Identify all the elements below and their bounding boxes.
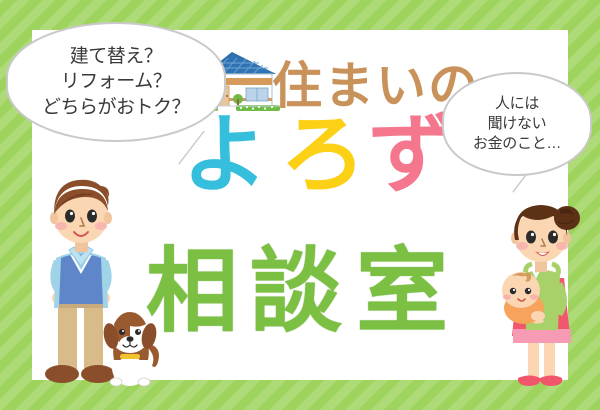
title-char-ro: ろ (280, 112, 366, 198)
money-bubble-line-2: 聞けない (473, 114, 561, 134)
money-bubble: 人には 聞けない お金のこと… (442, 72, 592, 176)
banner-root: 住まいの よ ろ ず 相 談 室 建て替え？ リフォーム？ どちらがおトク？ 人… (0, 0, 600, 410)
dog-illustration (100, 310, 162, 388)
question-bubble-line-1: 建て替え？ (42, 44, 190, 69)
money-bubble-line-3: お金のこと… (473, 134, 561, 154)
question-bubble-line-3: どちらがおトク？ (42, 95, 190, 120)
question-bubble-tail (168, 130, 204, 164)
question-bubble: 建て替え？ リフォーム？ どちらがおトク？ (6, 22, 226, 142)
money-bubble-line-1: 人には (473, 94, 561, 114)
question-bubble-line-2: リフォーム？ (42, 69, 190, 94)
title-char-dan: 談 (250, 246, 342, 338)
mother-holding-baby-illustration (488, 196, 586, 392)
title-char-shitsu: 室 (356, 246, 448, 338)
